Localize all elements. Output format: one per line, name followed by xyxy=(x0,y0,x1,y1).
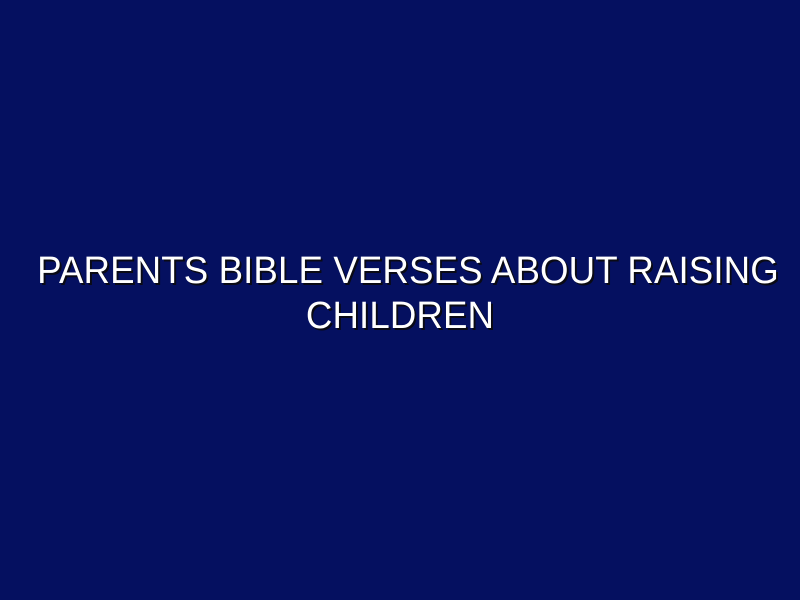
page-title-line-1: PARENTS BIBLE VERSES ABOUT RAISING xyxy=(37,249,763,294)
page-title: PARENTS BIBLE VERSES ABOUT RAISING CHILD… xyxy=(0,249,800,339)
slide-canvas: PARENTS BIBLE VERSES ABOUT RAISING CHILD… xyxy=(0,0,800,600)
page-title-line-2: CHILDREN xyxy=(37,294,763,339)
